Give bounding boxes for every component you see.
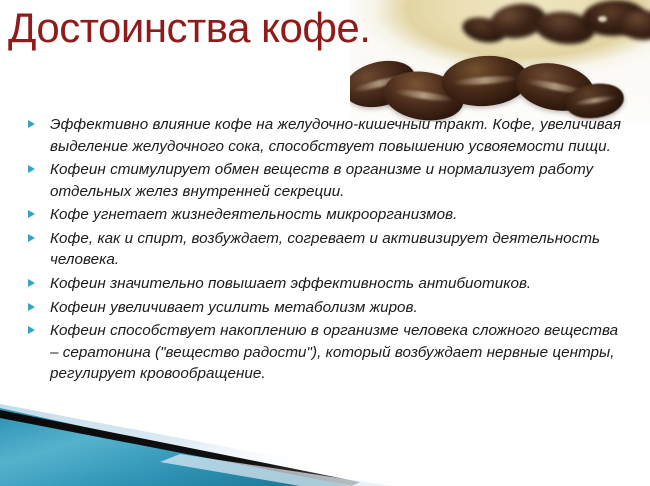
list-item: Кофе, как и спирт, возбуждает, согревает… xyxy=(24,228,624,271)
pale-blue-tail xyxy=(160,454,392,486)
triangle-bullet-icon xyxy=(28,165,35,173)
list-item: Кофеин стимулирует обмен веществ в орган… xyxy=(24,159,624,202)
list-item-text: Эффективно влияние кофе на желудочно-киш… xyxy=(50,116,621,155)
black-stripe xyxy=(0,410,360,486)
list-item-text: Кофеин способствует накоплению в организ… xyxy=(50,322,618,382)
list-item-text: Кофе угнетает жизнедеятельность микроорг… xyxy=(50,206,457,223)
decorative-diagonal-banner xyxy=(0,396,650,486)
list-item-text: Кофе, как и спирт, возбуждает, согревает… xyxy=(50,230,600,269)
triangle-bullet-icon xyxy=(28,303,35,311)
list-item: Эффективно влияние кофе на желудочно-киш… xyxy=(24,114,624,157)
coffee-beans-and-saucer-photo xyxy=(350,0,650,122)
bullet-list: Эффективно влияние кофе на желудочно-киш… xyxy=(24,114,624,387)
triangle-bullet-icon xyxy=(28,279,35,287)
list-item-text: Кофеин увеличивает усилить метаболизм жи… xyxy=(50,299,418,316)
page-title: Достоинства кофе. xyxy=(8,6,370,50)
pale-blue-sliver xyxy=(0,404,370,486)
teal-wedge xyxy=(0,408,350,486)
bean-highlight xyxy=(598,16,607,22)
triangle-bullet-icon xyxy=(28,326,35,334)
list-item: Кофеин значительно повышает эффективност… xyxy=(24,273,624,295)
triangle-bullet-icon xyxy=(28,210,35,218)
triangle-bullet-icon xyxy=(28,234,35,242)
list-item: Кофеин увеличивает усилить метаболизм жи… xyxy=(24,297,624,319)
list-item: Кофеин способствует накоплению в организ… xyxy=(24,320,624,385)
list-item-text: Кофеин стимулирует обмен веществ в орган… xyxy=(50,161,593,200)
triangle-bullet-icon xyxy=(28,120,35,128)
presentation-slide: Достоинства кофе. Эффективно влияние коф… xyxy=(0,0,650,486)
list-item-text: Кофеин значительно повышает эффективност… xyxy=(50,275,531,292)
list-item: Кофе угнетает жизнедеятельность микроорг… xyxy=(24,204,624,226)
